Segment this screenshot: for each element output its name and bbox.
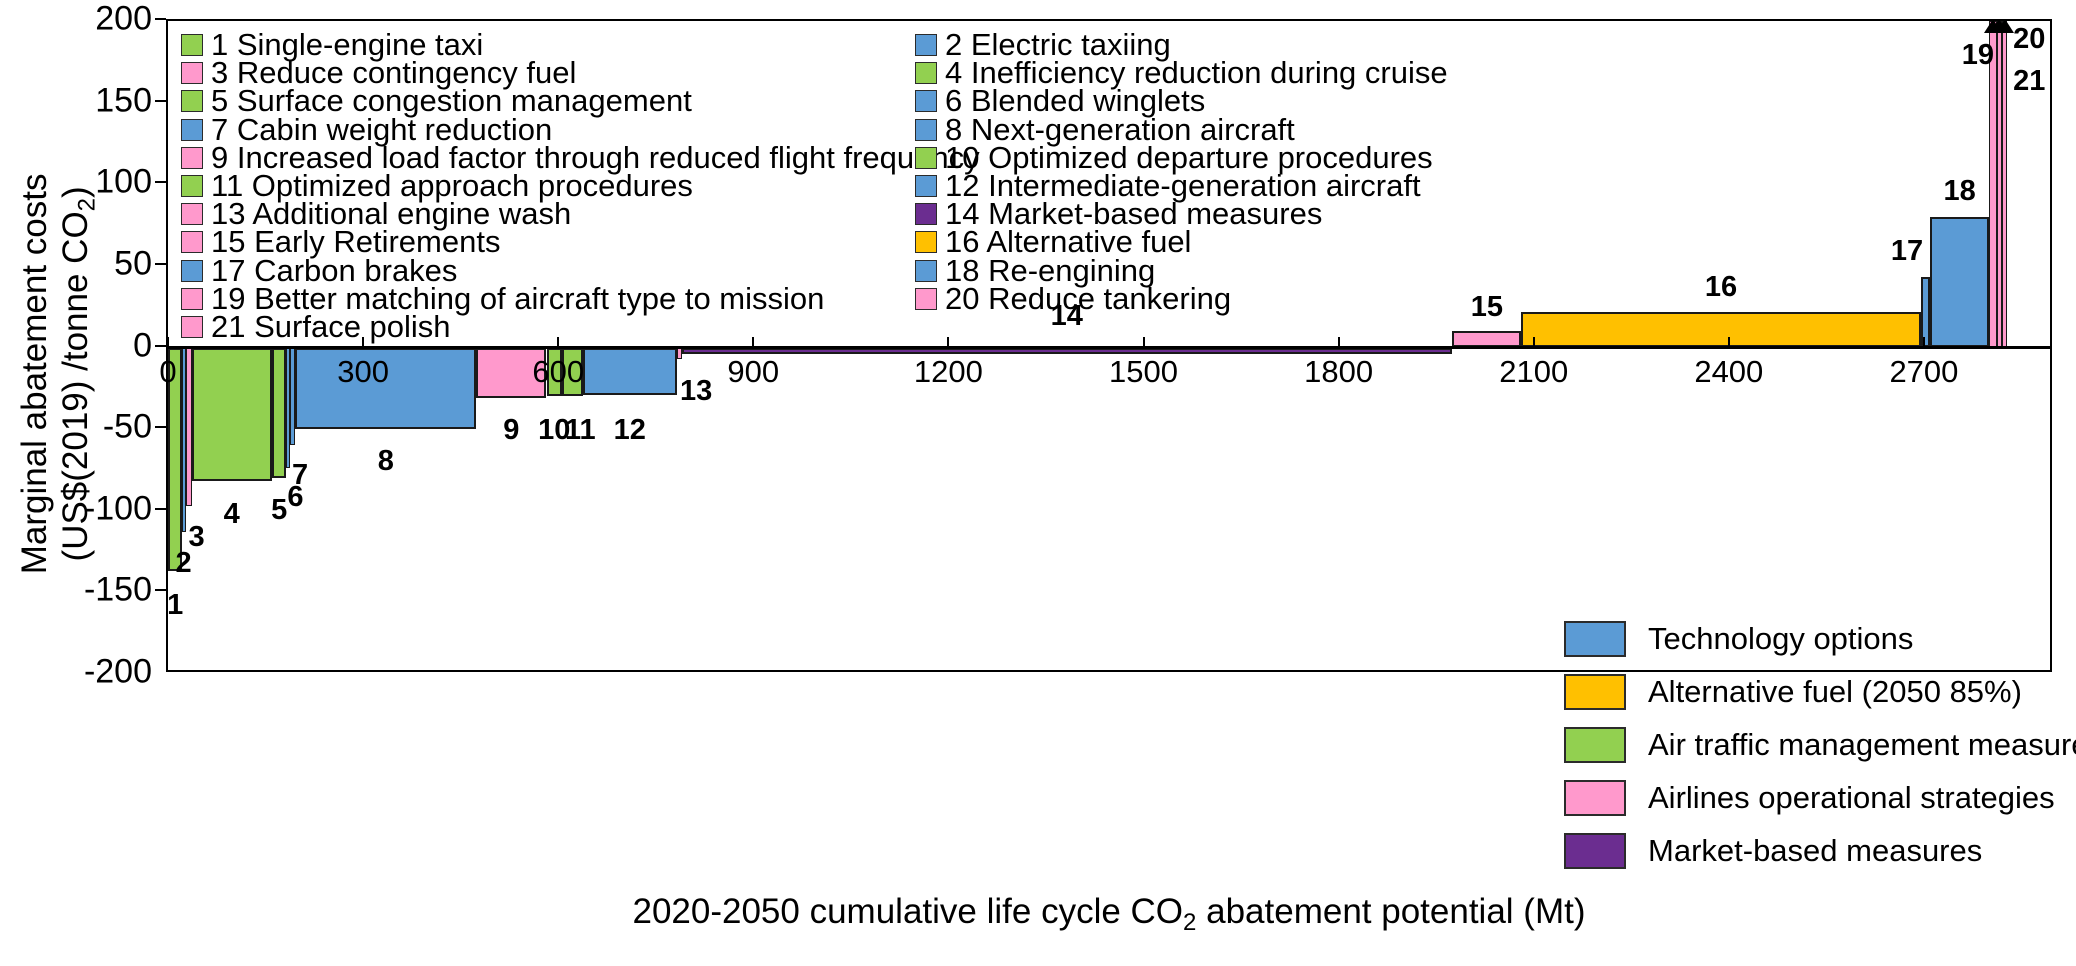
legend-swatch-icon xyxy=(915,147,937,169)
category-legend: Technology optionsAlternative fuel (2050… xyxy=(1564,612,2034,877)
legend-swatch-icon xyxy=(181,90,203,112)
y-tick-mark xyxy=(155,181,166,183)
callout-7: 7 xyxy=(292,459,308,492)
x-tick-label: 1800 xyxy=(1304,354,1373,390)
x-tick-mark xyxy=(1728,337,1730,348)
bar-measure-3 xyxy=(186,348,193,506)
category-swatch-icon xyxy=(1564,674,1626,710)
category-swatch-icon xyxy=(1564,833,1626,869)
category-legend-item-0: Technology options xyxy=(1564,612,2034,665)
y-tick-label: 0 xyxy=(0,326,152,365)
callout-3: 3 xyxy=(189,521,205,554)
category-legend-label: Air traffic management measures xyxy=(1648,727,2076,763)
y-tick-label: 100 xyxy=(0,163,152,202)
callout-12: 12 xyxy=(614,414,646,447)
y-tick-label: -200 xyxy=(0,653,152,692)
x-tick-label: 2100 xyxy=(1499,354,1568,390)
legend-swatch-icon xyxy=(181,34,203,56)
legend-swatch-icon xyxy=(915,175,937,197)
legend-swatch-icon xyxy=(915,260,937,282)
category-swatch-icon xyxy=(1564,727,1626,763)
bar-measure-12 xyxy=(583,348,677,395)
y-tick-label: -150 xyxy=(0,571,152,610)
legend-swatch-icon xyxy=(181,175,203,197)
y-tick-mark xyxy=(155,18,166,20)
clipped-bar-arrow-21 xyxy=(1996,19,2014,33)
x-tick-mark xyxy=(167,337,169,348)
callout-18: 18 xyxy=(1944,175,1976,208)
measure-legend-label: 21 Surface polish xyxy=(211,309,451,345)
callout-20: 20 xyxy=(2013,23,2045,56)
x-axis-title: 2020-2050 cumulative life cycle CO2 abat… xyxy=(166,892,2052,937)
measure-legend-item-20: 20 Reduce tankering xyxy=(915,285,1555,313)
x-tick-label: 300 xyxy=(337,354,389,390)
legend-swatch-icon xyxy=(915,34,937,56)
y-tick-label: 50 xyxy=(0,244,152,283)
category-swatch-icon xyxy=(1564,780,1626,816)
macc-figure: Marginal abatement costs (US$(2019) /ton… xyxy=(0,0,2076,966)
legend-swatch-icon xyxy=(915,203,937,225)
bar-measure-18 xyxy=(1930,217,1989,348)
y-tick-label: 150 xyxy=(0,81,152,120)
x-tick-label: 2700 xyxy=(1889,354,1958,390)
callout-17: 17 xyxy=(1891,235,1923,268)
legend-swatch-icon xyxy=(181,231,203,253)
category-legend-item-3: Airlines operational strategies xyxy=(1564,771,2034,824)
callout-11: 11 xyxy=(565,414,596,447)
category-legend-item-2: Air traffic management measures xyxy=(1564,718,2034,771)
x-tick-label: 0 xyxy=(159,354,176,390)
x-tick-label: 1200 xyxy=(914,354,983,390)
measures-legend: 1 Single-engine taxi2 Electric taxiing3 … xyxy=(181,31,1571,341)
measure-legend-spacer xyxy=(915,313,1555,341)
x-tick-label: 900 xyxy=(727,354,779,390)
bar-measure-16 xyxy=(1521,312,1921,348)
callout-21: 21 xyxy=(2013,65,2045,98)
y-tick-mark xyxy=(155,100,166,102)
plot-area: 0300600900120015001800210024002700 12345… xyxy=(166,19,2052,672)
legend-swatch-icon xyxy=(915,231,937,253)
x-tick-label: 600 xyxy=(532,354,584,390)
callout-5: 5 xyxy=(271,494,287,527)
y-tick-mark xyxy=(155,426,166,428)
x-axis-title-a: 2020-2050 cumulative life cycle CO xyxy=(632,892,1183,931)
callout-13: 13 xyxy=(680,375,712,408)
y-tick-label: -50 xyxy=(0,408,152,447)
callout-8: 8 xyxy=(378,445,394,478)
measure-legend-item-21: 21 Surface polish xyxy=(181,313,915,341)
legend-swatch-icon xyxy=(915,119,937,141)
callout-1: 1 xyxy=(167,589,183,622)
y-tick-label: -100 xyxy=(0,489,152,528)
legend-swatch-icon xyxy=(915,288,937,310)
measure-legend-label: 20 Reduce tankering xyxy=(945,281,1231,317)
callout-16: 16 xyxy=(1705,271,1737,304)
callout-19: 19 xyxy=(1962,39,1994,72)
category-legend-label: Market-based measures xyxy=(1648,833,1982,869)
bar-measure-5 xyxy=(272,348,286,479)
category-legend-item-4: Market-based measures xyxy=(1564,824,2034,877)
legend-swatch-icon xyxy=(181,288,203,310)
legend-swatch-icon xyxy=(181,203,203,225)
legend-swatch-icon xyxy=(915,62,937,84)
x-tick-mark xyxy=(1923,337,1925,348)
y-tick-mark xyxy=(155,508,166,510)
y-tick-mark xyxy=(155,345,166,347)
legend-swatch-icon xyxy=(181,147,203,169)
legend-swatch-icon xyxy=(181,316,203,338)
x-tick-label: 1500 xyxy=(1109,354,1178,390)
y-tick-mark xyxy=(155,589,166,591)
x-axis-title-b: abatement potential (Mt) xyxy=(1196,892,1585,931)
y-tick-mark xyxy=(155,263,166,265)
category-legend-label: Airlines operational strategies xyxy=(1648,780,2055,816)
category-legend-label: Technology options xyxy=(1648,621,1913,657)
legend-swatch-icon xyxy=(181,62,203,84)
bar-measure-21 xyxy=(2002,21,2007,348)
category-legend-item-1: Alternative fuel (2050 85%) xyxy=(1564,665,2034,718)
legend-swatch-icon xyxy=(181,119,203,141)
y-tick-label: 200 xyxy=(0,0,152,39)
category-legend-label: Alternative fuel (2050 85%) xyxy=(1648,674,2022,710)
zero-axis-line xyxy=(168,346,2050,349)
x-axis-title-subscript: 2 xyxy=(1183,909,1196,936)
legend-swatch-icon xyxy=(915,90,937,112)
category-swatch-icon xyxy=(1564,621,1626,657)
legend-swatch-icon xyxy=(181,260,203,282)
callout-4: 4 xyxy=(224,498,240,531)
x-tick-label: 2400 xyxy=(1694,354,1763,390)
callout-9: 9 xyxy=(503,414,519,447)
bar-measure-4 xyxy=(192,348,272,482)
